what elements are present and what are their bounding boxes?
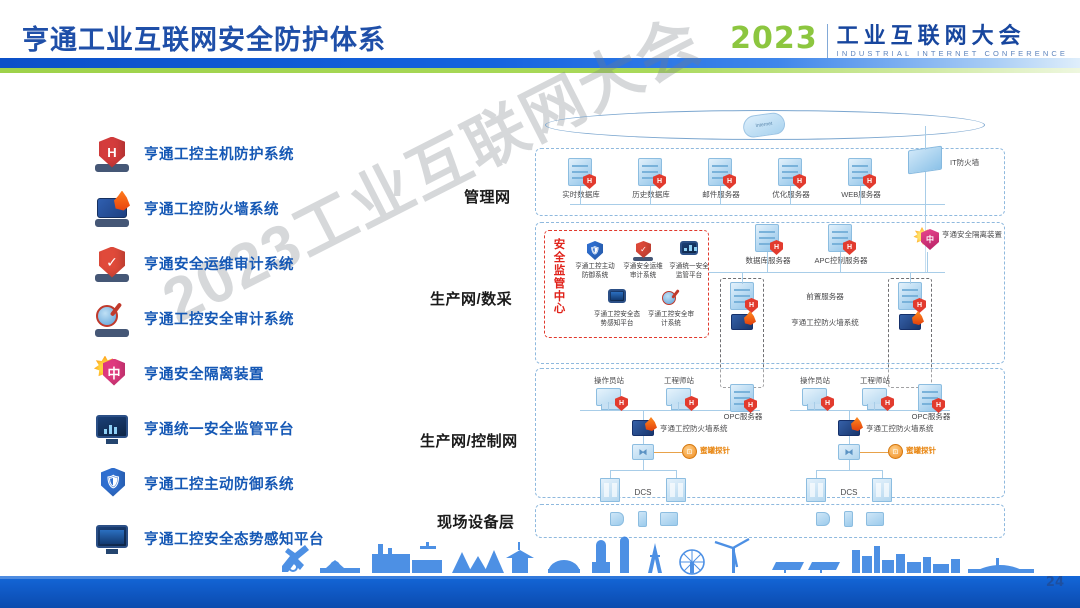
product-item-active-defense[interactable]: 🛡 亨通工控主动防御系统 <box>92 456 392 511</box>
row-label-production-data-net: 生产网/数采 <box>430 288 512 309</box>
product-label: 亨通安全运维审计系统 <box>144 253 294 274</box>
page-title: 亨通工业互联网安全防护体系 <box>22 18 386 57</box>
connector <box>840 252 841 272</box>
monitor-situation-icon <box>607 289 627 309</box>
node-label-operator-station-right: 操作员站 <box>788 376 842 385</box>
connector <box>654 452 682 453</box>
node-label-engineer-station-right: 工程师站 <box>848 376 902 385</box>
red-shield-check-icon: ✓ <box>633 241 653 261</box>
monitor-chart-icon <box>679 241 699 261</box>
network-architecture-diagram: Internet 管理网 生产网/数采 生产网/控制网 现场设备层 H 实时数据… <box>410 96 1030 536</box>
product-item-isolation[interactable]: 中 亨通安全隔离装置 <box>92 346 392 401</box>
ics-firewall-icon-left <box>731 314 753 330</box>
node-label-opc-server-right: OPC服务器 <box>904 412 958 421</box>
product-item-ops-audit[interactable]: ✓ 亨通安全运维审计系统 <box>92 236 392 291</box>
node-label-operator-station-left: 操作员站 <box>582 376 636 385</box>
node-label-opc-server-left: OPC服务器 <box>716 412 770 421</box>
sc-label: 亨通统一安全监管平台 <box>667 263 711 280</box>
red-shield-check-icon: ✓ <box>92 244 132 284</box>
camera-device-icon-right <box>816 512 830 526</box>
product-item-host-protection[interactable]: H 亨通工控主机防护系统 <box>92 126 392 181</box>
connector <box>816 470 882 471</box>
row-label-field-device-layer: 现场设备层 <box>437 511 515 532</box>
switch-icon-right: ⧓ <box>838 444 860 460</box>
connector <box>608 402 609 410</box>
sc-label: 亨通工控安全审计系统 <box>647 311 695 328</box>
management-net-bus <box>570 204 945 205</box>
sensor-device-icon-right <box>844 511 853 527</box>
node-label-database-server: 数据库服务器 <box>736 256 800 265</box>
node-label-optimization-server: 优化服务器 <box>760 190 822 199</box>
security-supervision-center: 安全监管中心 🛡 亨通工控主动防御系统 ✓ 亨通安全运维审计系统 <box>544 230 709 338</box>
sc-label: 亨通工控安全态势感知平台 <box>593 311 641 328</box>
magnifier-audit-icon <box>92 299 132 339</box>
connector <box>860 186 861 204</box>
product-item-unified-platform[interactable]: 亨通统一安全监管平台 <box>92 401 392 456</box>
dcs-right-a <box>806 478 826 502</box>
controller-device-icon-left <box>660 512 678 526</box>
connector <box>849 410 850 420</box>
header-rule-green <box>0 68 1080 73</box>
logo-year: 2023 <box>730 24 818 54</box>
ics-firewall-icon-control-right <box>838 420 860 436</box>
logo-cn-name: 工业互联网大会 <box>837 24 1068 47</box>
dcs-left-a <box>600 478 620 502</box>
sc-item-ics-audit[interactable]: 亨通工控安全审计系统 <box>647 289 695 328</box>
node-label-web-server: WEB服务器 <box>830 190 892 199</box>
product-label: 亨通统一安全监管平台 <box>144 418 294 439</box>
connector <box>643 410 644 420</box>
security-isolation-device-icon: 中 <box>915 226 939 252</box>
node-label-honeypot-right: 蜜罐探针 <box>906 446 936 455</box>
connector <box>676 470 677 478</box>
logo-en-name: INDUSTRIAL INTERNET CONFERENCE <box>837 49 1068 58</box>
sc-item-situation-awareness[interactable]: 亨通工控安全态势感知平台 <box>593 289 641 328</box>
security-center-title: 安全监管中心 <box>551 239 568 316</box>
firewall-box-icon <box>92 189 132 229</box>
connector <box>767 252 768 272</box>
node-label-dcs-right: DCS <box>832 488 866 498</box>
slide-root: 亨通工业互联网安全防护体系 2023 中国·苏州 9月14日-16日 工业互联网… <box>0 0 1080 608</box>
zone-field-device-layer <box>535 504 1005 538</box>
node-label-front-servers: 前置服务器 <box>790 292 860 301</box>
monitor-chart-icon <box>92 409 132 449</box>
connector <box>742 272 743 284</box>
sc-label: 亨通安全运维审计系统 <box>621 263 665 280</box>
blue-shield-icon: 🛡 <box>92 464 132 504</box>
node-label-ics-firewall-control-left: 亨通工控防火墙系统 <box>660 424 760 433</box>
sc-item-active-defense[interactable]: 🛡 亨通工控主动防御系统 <box>573 241 617 280</box>
slide-header: 亨通工业互联网安全防护体系 2023 中国·苏州 9月14日-16日 工业互联网… <box>0 0 1080 78</box>
node-label-ics-firewall-system-data: 亨通工控防火墙系统 <box>770 318 880 327</box>
node-label-honeypot-left: 蜜罐探针 <box>700 446 730 455</box>
product-label: 亨通安全隔离装置 <box>144 363 264 384</box>
row-label-production-control-net: 生产网/控制网 <box>420 430 518 451</box>
magnifier-audit-icon <box>661 289 681 309</box>
connector <box>643 460 644 470</box>
node-label-realtime-db: 实时数据库 <box>550 190 612 199</box>
connector <box>610 470 676 471</box>
connector <box>610 470 611 478</box>
product-label: 亨通工控防火墙系统 <box>144 198 279 219</box>
sc-item-unified-platform[interactable]: 亨通统一安全监管平台 <box>667 241 711 280</box>
connector <box>816 470 817 478</box>
connector <box>927 252 928 272</box>
pink-shield-burst-icon: 中 <box>92 354 132 394</box>
ics-firewall-icon-control-left <box>632 420 654 436</box>
connector <box>643 436 644 444</box>
product-item-ics-audit[interactable]: 亨通工控安全审计系统 <box>92 291 392 346</box>
product-label: 亨通工控主机防护系统 <box>144 143 294 164</box>
product-label: 亨通工控安全审计系统 <box>144 308 294 329</box>
node-label-it-firewall: IT防火墙 <box>950 158 979 167</box>
connector-cloud-to-itfw <box>925 126 926 148</box>
sensor-device-icon-left <box>638 511 647 527</box>
dcs-left-b <box>666 478 686 502</box>
product-item-firewall[interactable]: 亨通工控防火墙系统 <box>92 181 392 236</box>
controller-device-icon-right <box>866 512 884 526</box>
node-label-apc-control-server: APC控制服务器 <box>806 256 876 265</box>
connector <box>882 470 883 478</box>
honeypot-probe-icon-right: ⊡ <box>888 444 903 459</box>
connector <box>650 186 651 204</box>
row-label-management-net: 管理网 <box>464 186 511 207</box>
sc-label: 亨通工控主动防御系统 <box>573 263 617 280</box>
product-list: H 亨通工控主机防护系统 亨通工控防火墙系统 ✓ 亨通安全运维审计系统 亨通工控… <box>92 126 392 566</box>
camera-device-icon-left <box>610 512 624 526</box>
connector <box>910 272 911 284</box>
dcs-right-b <box>872 478 892 502</box>
blue-shield-icon: 🛡 <box>585 241 605 261</box>
page-number: 24 <box>1046 575 1064 590</box>
connector <box>874 402 875 410</box>
city-skyline-decoration <box>0 536 1080 578</box>
connector <box>790 186 791 204</box>
node-label-engineer-station-left: 工程师站 <box>652 376 706 385</box>
switch-icon-left: ⧓ <box>632 444 654 460</box>
node-label-isolation-device: 亨通安全隔离装置 <box>942 230 1002 239</box>
ics-firewall-icon-right <box>899 314 921 330</box>
red-shield-host-icon: H <box>92 134 132 174</box>
connector <box>814 402 815 410</box>
honeypot-probe-icon-left: ⊡ <box>682 444 697 459</box>
node-label-history-db: 历史数据库 <box>620 190 682 199</box>
sc-item-ops-audit[interactable]: ✓ 亨通安全运维审计系统 <box>621 241 665 280</box>
node-label-mail-server: 邮件服务器 <box>690 190 752 199</box>
connector <box>678 402 679 410</box>
connector <box>849 460 850 470</box>
internet-cloud-label: Internet <box>755 121 773 129</box>
node-label-dcs-left: DCS <box>626 488 660 498</box>
header-rule-blue <box>0 58 1080 68</box>
connector <box>720 186 721 204</box>
product-label: 亨通工控主动防御系统 <box>144 473 294 494</box>
connector <box>860 452 888 453</box>
node-label-ics-firewall-control-right: 亨通工控防火墙系统 <box>866 424 966 433</box>
connector <box>580 186 581 204</box>
connector <box>849 436 850 444</box>
footer-blue-band <box>0 576 1080 608</box>
slide-footer: 24 <box>0 548 1080 608</box>
